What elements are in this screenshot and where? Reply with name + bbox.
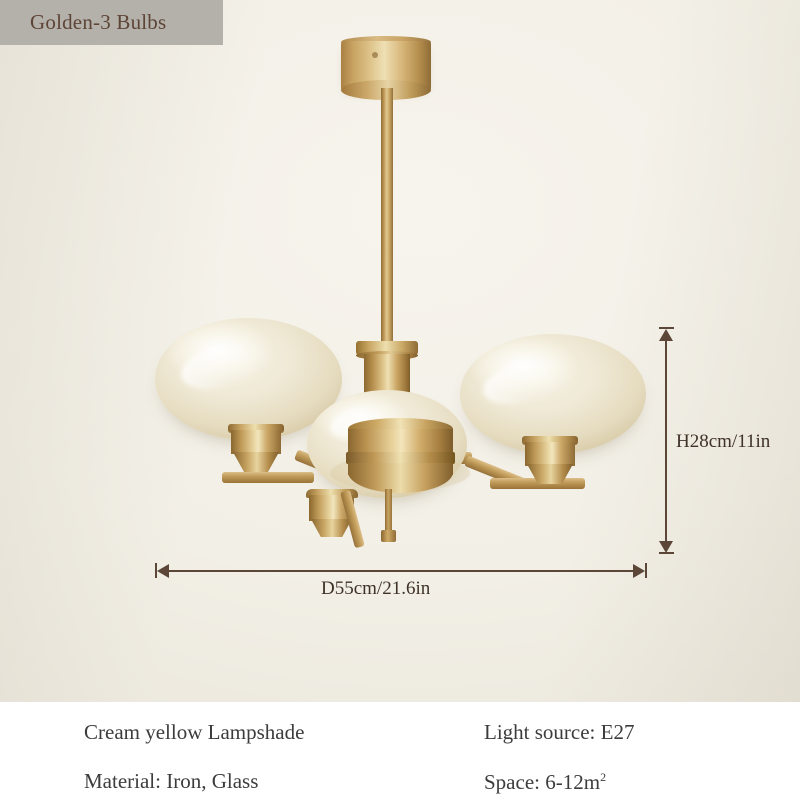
diameter-dimension-label: D55cm/21.6in [321,578,430,600]
shade-left-socket-body [231,430,281,454]
spec-material: Material: Iron, Glass [84,771,304,792]
spec-panel: Cream yellow Lampshade Material: Iron, G… [0,702,800,800]
height-dimension-label: H28cm/11in [676,431,770,453]
spec-space-superscript: 2 [600,770,606,784]
shade-right-socket-body [525,442,575,466]
variant-banner: Golden-3 Bulbs [0,0,223,45]
shade-left-socket-stem [250,468,261,478]
variant-label: Golden-3 Bulbs [30,10,166,35]
spec-column-left: Cream yellow Lampshade Material: Iron, G… [84,722,304,792]
spec-light-source: Light source: E27 [484,722,634,743]
canopy-screw [372,52,378,58]
shade-front-socket-cone [311,519,352,537]
product-image-page: H28cm/11in D55cm/21.6in Golden-3 Bulbs C… [0,0,800,800]
spec-space-text: Space: 6-12m [484,770,600,794]
drop-rod [381,88,393,343]
height-dim-line [665,333,667,545]
left-arm-horizontal [222,472,314,483]
product-photo: H28cm/11in D55cm/21.6in Golden-3 Bulbs [0,0,800,702]
diameter-dim-right-cap [645,563,647,578]
center-finial-tip [381,530,396,542]
spec-column-right: Light source: E27 Space: 6-12m2 [484,722,634,793]
diameter-dim-line [163,570,641,572]
shade-right-socket-stem [544,480,555,490]
spec-lampshade-color: Cream yellow Lampshade [84,722,304,743]
diameter-dim-arrow-right [633,564,645,578]
spec-space: Space: 6-12m2 [484,771,634,793]
height-dim-bottom-cap [659,552,674,554]
